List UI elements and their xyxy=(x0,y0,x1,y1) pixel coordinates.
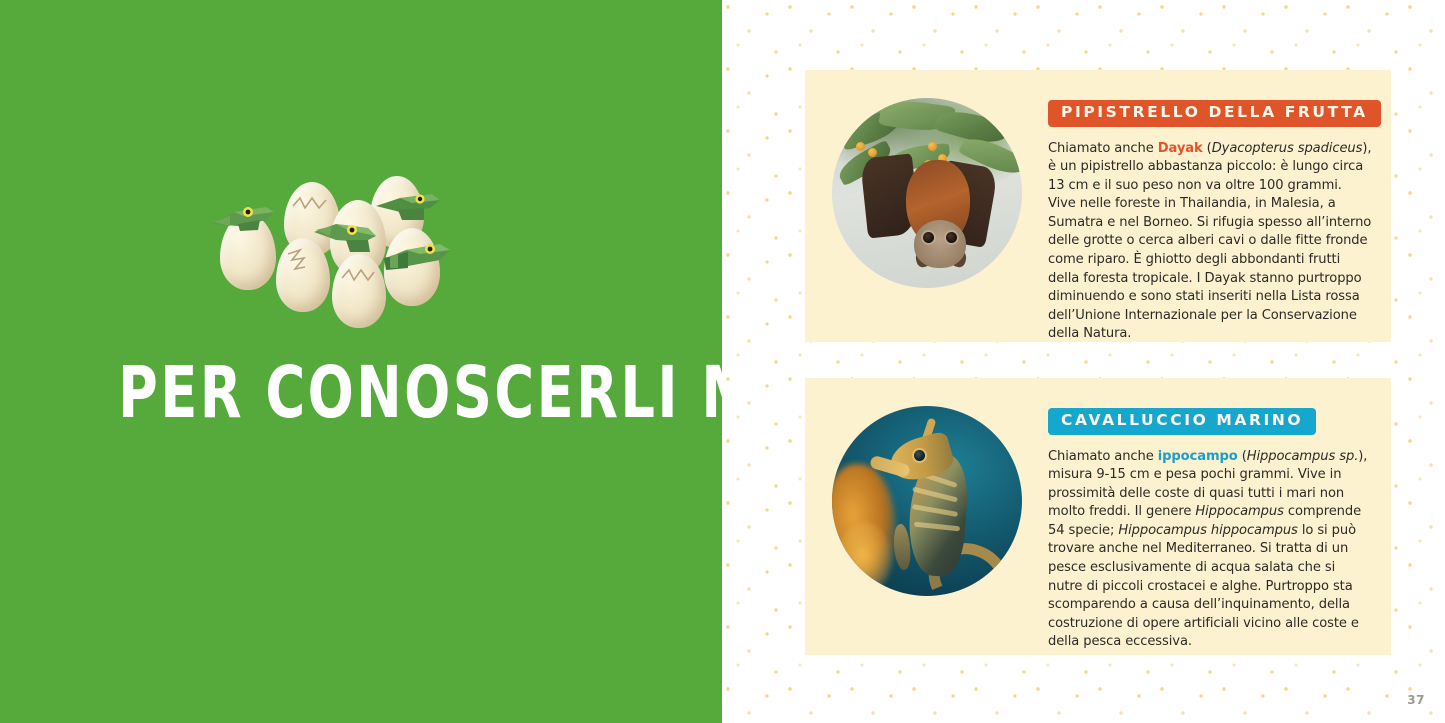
scientific-name-hippocampus-hippocampus: Hippocampus hippocampus xyxy=(1118,523,1297,538)
fruit-bat-description: Chiamato anche Dayak (Dyacopterus spadic… xyxy=(1048,140,1373,345)
fruit-bat-photo xyxy=(832,98,1022,288)
fruit-bat-name-badge: PIPISTRELLO DELLA FRUTTA xyxy=(1048,100,1381,127)
seahorse-name-badge: CAVALLUCCIO MARINO xyxy=(1048,408,1316,435)
scientific-name-dyacopterus: Dyacopterus spadiceus xyxy=(1212,141,1363,156)
scientific-name-genus-hippocampus: Hippocampus xyxy=(1195,504,1283,519)
fruit-bat-card-body: PIPISTRELLO DELLA FRUTTA Chiamato anche … xyxy=(1048,100,1373,344)
hatchling-crocodile-4 xyxy=(378,234,456,282)
text-lead-0: Chiamato anche xyxy=(1048,141,1158,156)
page-number: 37 xyxy=(1407,693,1425,707)
hatchling-crocodile-3 xyxy=(372,186,444,232)
seahorse-photo xyxy=(832,406,1022,596)
left-page: PER CONOSCERLI MEGLIO... xyxy=(0,0,722,723)
book-spread: PER CONOSCERLI MEGLIO... xyxy=(0,0,1445,723)
text-rest-0: ), è un pipistrello abbastanza piccolo: … xyxy=(1048,141,1371,342)
fact-card-fruit-bat: PIPISTRELLO DELLA FRUTTA Chiamato anche … xyxy=(805,70,1391,342)
text-paren-open-0: ( xyxy=(1203,141,1212,156)
page-title: PER CONOSCERLI MEGLIO... xyxy=(118,358,642,430)
scientific-name-hippocampus-sp: Hippocampus sp. xyxy=(1247,449,1359,464)
text-paren-open-1: ( xyxy=(1238,449,1247,464)
crocodile-hatchlings-in-eggs-illustration xyxy=(192,176,454,336)
text-lead-1: Chiamato anche xyxy=(1048,449,1158,464)
right-page: PIPISTRELLO DELLA FRUTTA Chiamato anche … xyxy=(722,0,1445,723)
text-rest-1c: lo si può trovare anche nel Mediterraneo… xyxy=(1048,523,1359,650)
fact-card-seahorse: CAVALLUCCIO MARINO Chiamato anche ippoca… xyxy=(805,378,1391,655)
seahorse-description: Chiamato anche ippocampo (Hippocampus sp… xyxy=(1048,448,1373,653)
highlight-dayak: Dayak xyxy=(1158,141,1203,156)
seahorse-card-body: CAVALLUCCIO MARINO Chiamato anche ippoca… xyxy=(1048,408,1373,652)
hatchling-crocodile-1 xyxy=(204,198,276,244)
highlight-ippocampo: ippocampo xyxy=(1158,449,1238,464)
